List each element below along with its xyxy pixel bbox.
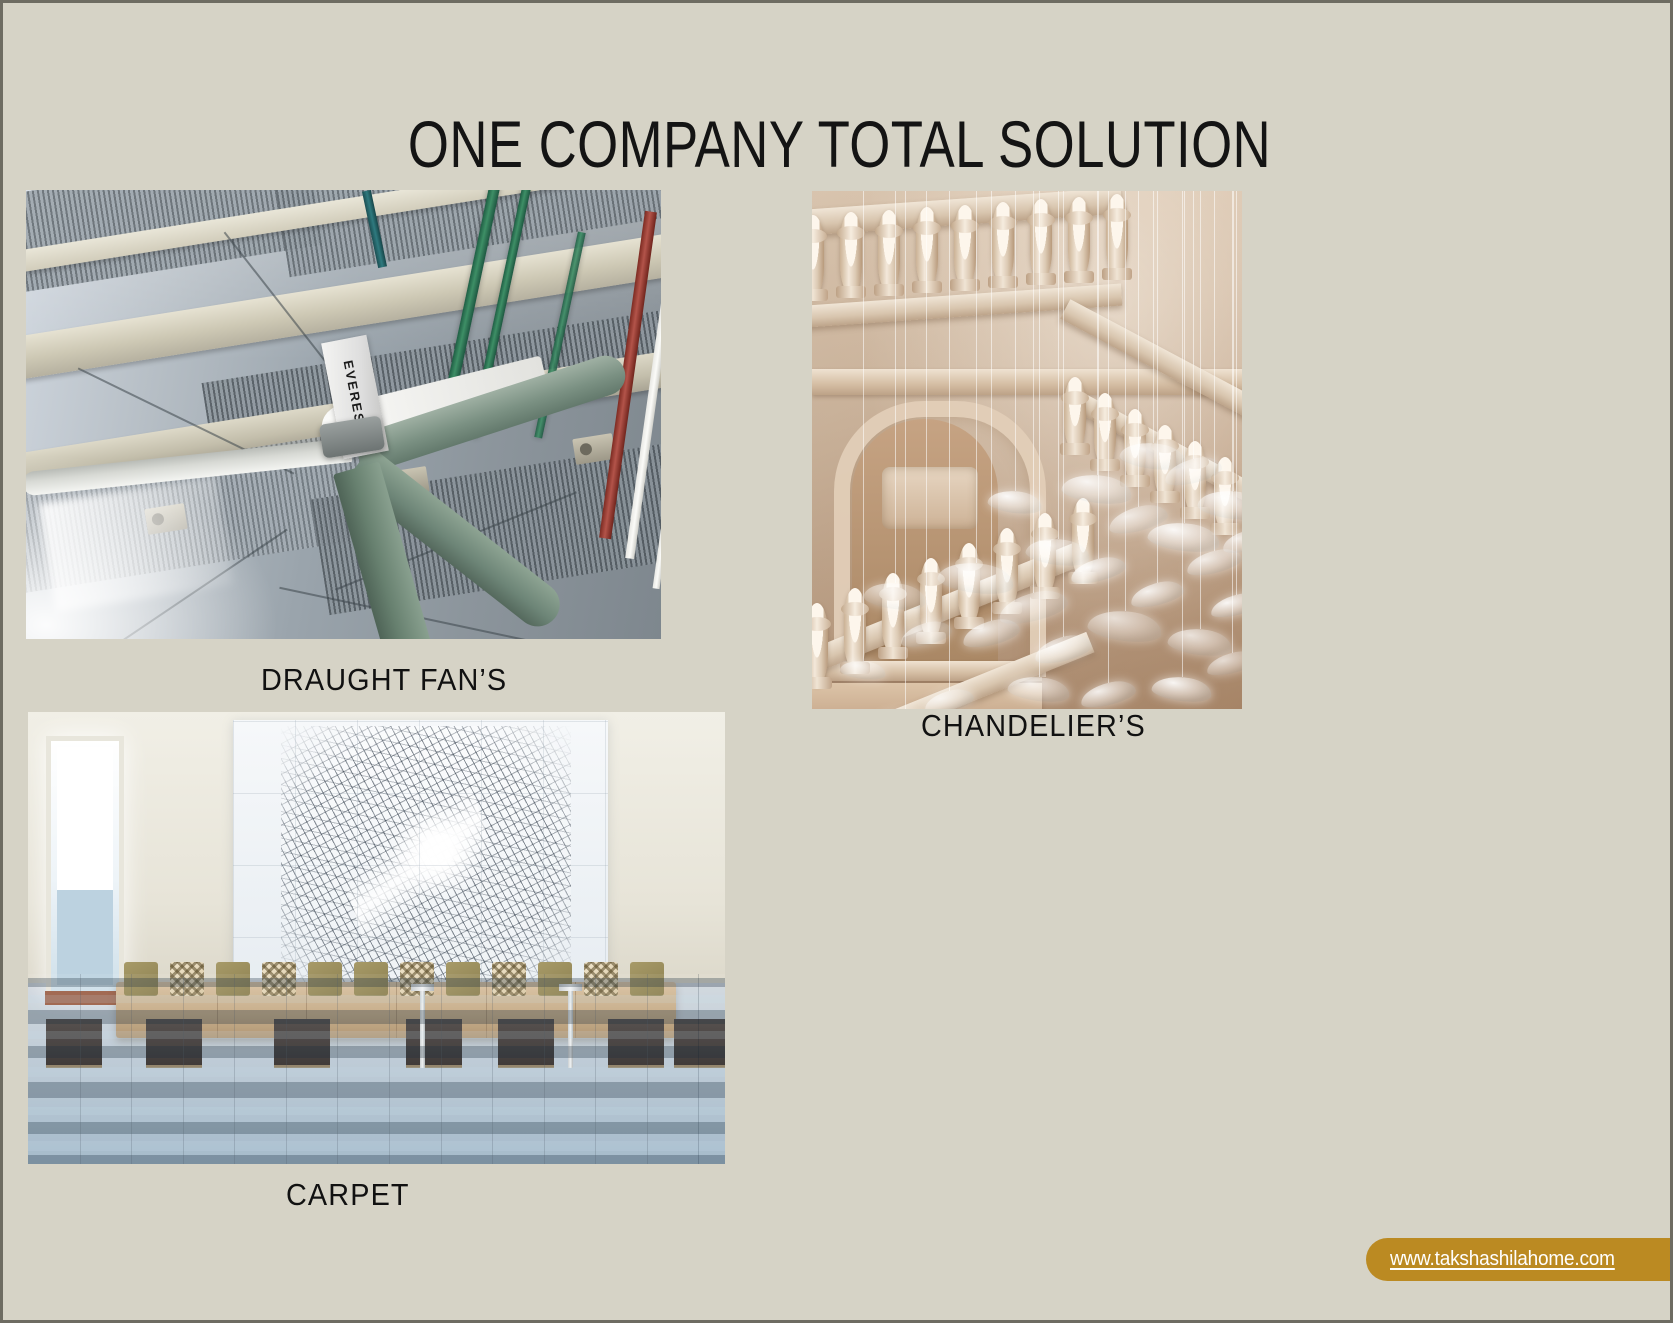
website-badge[interactable]: www.takshashilahome.com <box>1366 1238 1671 1281</box>
carpet-plank-seam <box>699 974 726 1164</box>
pendant-cord <box>1033 191 1034 593</box>
carpet-plank-seam <box>183 974 236 1164</box>
caption-chandeliers: CHANDELIER’S <box>921 708 1146 744</box>
carpet-plank-seam <box>286 974 339 1164</box>
carpet-plank-seam <box>595 974 648 1164</box>
wall-relief-panel <box>882 467 978 529</box>
carpet-plank-seam <box>441 974 494 1164</box>
pendant-cord <box>1233 191 1234 491</box>
pendant-cord <box>1153 191 1154 443</box>
pendant-cord <box>1125 191 1126 611</box>
pendant-cord <box>976 191 977 563</box>
window-glare <box>57 747 113 985</box>
lobby-window <box>46 736 124 996</box>
caption-draught-fans: DRAUGHT FAN’S <box>261 662 507 698</box>
photo-draught-fans: EVEREST <box>26 190 661 639</box>
pendant-cord <box>1058 191 1059 539</box>
carpet-plank-seam <box>492 974 545 1164</box>
baluster <box>840 212 862 294</box>
carpet-plank-seam <box>234 974 287 1164</box>
pendant-cord <box>1063 191 1064 637</box>
website-link[interactable]: www.takshashilahome.com <box>1390 1248 1615 1271</box>
carpet-plank-seam <box>28 974 81 1164</box>
pendant-cord <box>895 191 896 583</box>
photo-carpet <box>28 712 725 1164</box>
pendant-cord <box>991 191 992 621</box>
baluster <box>954 205 976 287</box>
carpet-plank-seam <box>544 974 597 1164</box>
carpet-plank-seam <box>337 974 390 1164</box>
carpet-plank-seam <box>389 974 442 1164</box>
pendant-cord <box>1193 191 1194 459</box>
baluster <box>992 202 1014 284</box>
presentation-slide: ONE COMPANY TOTAL SOLUTION <box>0 0 1673 1323</box>
baluster <box>812 603 828 685</box>
carpet-plank-seam <box>647 974 700 1164</box>
pendant-cord <box>1108 191 1109 683</box>
photo-chandeliers <box>812 191 1242 709</box>
carpet-plank-seam <box>80 974 133 1164</box>
pendant-cord <box>1015 191 1016 491</box>
baluster <box>1068 197 1090 279</box>
baluster <box>916 207 938 289</box>
pendant-cord <box>863 191 864 661</box>
carpet-lobby-image <box>28 712 725 1164</box>
caption-carpet: CARPET <box>286 1177 410 1213</box>
pendant-cord <box>1232 191 1233 653</box>
chandelier-image <box>812 191 1242 709</box>
baluster <box>1064 377 1086 451</box>
pendant-cord <box>949 191 950 691</box>
draught-fan-image: EVEREST <box>26 190 661 639</box>
carpet-plank-seam <box>131 974 184 1164</box>
page-title: ONE COMPANY TOTAL SOLUTION <box>170 111 1508 177</box>
baluster <box>878 210 900 292</box>
pendant-cord <box>1182 191 1183 677</box>
striped-carpet-floor <box>28 974 725 1164</box>
pendant-cord <box>1098 191 1099 559</box>
pendant-cord <box>926 191 927 623</box>
